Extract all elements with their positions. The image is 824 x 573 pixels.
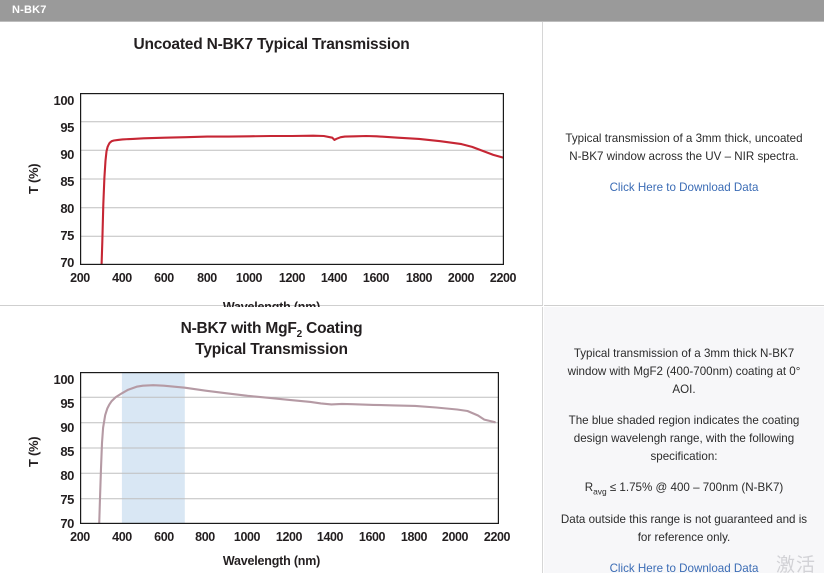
panel-text-uncoated: Typical transmission of a 3mm thick, unc… (544, 22, 824, 306)
panel-chart-uncoated: Uncoated N-BK7 Typical Transmission T (%… (0, 22, 543, 306)
y-axis-label-mgf2: T (%) (26, 437, 41, 467)
description-uncoated: Typical transmission of a 3mm thick, unc… (560, 130, 808, 166)
window-titlebar: N-BK7 (0, 0, 824, 22)
y-tick: 90 (41, 421, 74, 434)
panel-chart-mgf2: N-BK7 with MgF2 Coating Typical Transmis… (0, 307, 543, 573)
download-data-link-uncoated[interactable]: Click Here to Download Data (610, 181, 759, 194)
x-tick: 2200 (475, 531, 519, 544)
x-tick: 2200 (481, 272, 525, 285)
y-tick: 70 (41, 256, 74, 269)
plot-uncoated: T (%) 100 95 90 85 80 75 70 (0, 22, 543, 306)
x-tick: 1800 (397, 272, 441, 285)
y-tick: 85 (41, 445, 74, 458)
x-tick: 2000 (439, 272, 483, 285)
y-tick: 75 (41, 229, 74, 242)
plot-svg-uncoated (80, 93, 504, 265)
panel-text-mgf2: Typical transmission of a 3mm thick N-BK… (544, 307, 824, 573)
y-tick: 95 (41, 121, 74, 134)
x-tick: 1000 (227, 272, 271, 285)
y-tick: 85 (41, 175, 74, 188)
y-tick: 100 (41, 373, 74, 386)
x-tick: 1400 (308, 531, 352, 544)
x-tick: 600 (142, 531, 186, 544)
y-tick: 80 (41, 202, 74, 215)
y-tick: 95 (41, 397, 74, 410)
x-tick: 1600 (350, 531, 394, 544)
plot-svg-mgf2 (80, 372, 499, 524)
content-grid: Uncoated N-BK7 Typical Transmission T (%… (0, 22, 824, 573)
plot-mgf2: T (%) 100 95 90 85 80 75 70 (0, 307, 543, 573)
spec-value: ≤ 1.75% @ 400 – 700nm (N-BK7) (607, 481, 784, 494)
y-axis-label-uncoated: T (%) (26, 164, 41, 194)
y-tick: 100 (41, 94, 74, 107)
description-mgf2: Typical transmission of a 3mm thick N-BK… (560, 345, 808, 399)
x-axis-label-mgf2: Wavelength (nm) (0, 554, 543, 568)
window-root: N-BK7 Uncoated N-BK7 Typical Transmissio… (0, 0, 824, 573)
x-tick: 400 (100, 531, 144, 544)
spec-symbol: R (585, 481, 593, 494)
download-data-link-mgf2[interactable]: Click Here to Download Data (610, 562, 759, 573)
x-tick: 1000 (225, 531, 269, 544)
x-tick: 1400 (312, 272, 356, 285)
x-tick: 800 (185, 272, 229, 285)
x-tick: 200 (58, 531, 102, 544)
shading-note-mgf2: The blue shaded region indicates the coa… (560, 412, 808, 466)
x-tick: 1600 (354, 272, 398, 285)
y-tick: 75 (41, 493, 74, 506)
x-tick: 200 (58, 272, 102, 285)
x-tick: 1800 (392, 531, 436, 544)
spec-subscript: avg (593, 486, 607, 496)
x-tick: 800 (183, 531, 227, 544)
disclaimer-mgf2: Data outside this range is not guarantee… (560, 511, 808, 547)
window-title: N-BK7 (12, 4, 47, 16)
spec-reflectance: Ravg ≤ 1.75% @ 400 – 700nm (N-BK7) (560, 479, 808, 498)
x-tick: 1200 (267, 531, 311, 544)
x-tick: 2000 (433, 531, 477, 544)
y-tick: 70 (41, 517, 74, 530)
y-tick: 90 (41, 148, 74, 161)
x-tick: 400 (100, 272, 144, 285)
x-tick: 1200 (270, 272, 314, 285)
y-tick: 80 (41, 469, 74, 482)
x-tick: 600 (142, 272, 186, 285)
